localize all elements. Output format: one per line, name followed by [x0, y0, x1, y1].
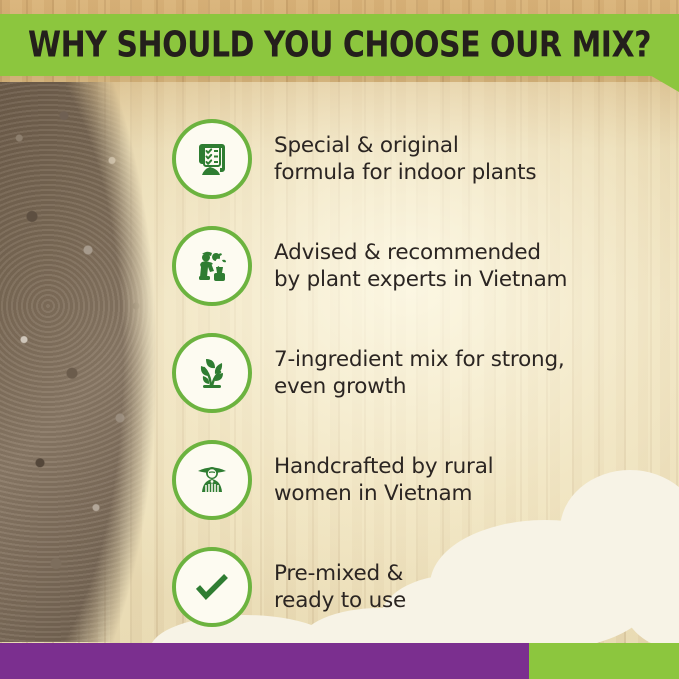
list-item: Advised & recommended by plant experts i…	[172, 212, 672, 319]
leaves-sprout-icon	[172, 333, 252, 413]
headline-banner: WHY SHOULD YOU CHOOSE OUR MIX?	[0, 14, 679, 76]
list-item: Handcrafted by rural women in Vietnam	[172, 426, 672, 533]
feature-list: Special & original formula for indoor pl…	[172, 105, 672, 640]
list-item-line-2: women in Vietnam	[274, 480, 493, 507]
list-item-line-1: 7-ingredient mix for strong,	[274, 346, 565, 373]
list-item-text: Handcrafted by rural women in Vietnam	[274, 453, 493, 507]
list-item-text: Advised & recommended by plant experts i…	[274, 239, 567, 293]
list-item-text: Special & original formula for indoor pl…	[274, 132, 536, 186]
checklist-clipboard-icon	[172, 119, 252, 199]
page-title: WHY SHOULD YOU CHOOSE OUR MIX?	[28, 24, 651, 65]
list-item: Special & original formula for indoor pl…	[172, 105, 672, 212]
list-item-line-2: even growth	[274, 373, 565, 400]
list-item: 7-ingredient mix for strong, even growth	[172, 319, 672, 426]
list-item-text: 7-ingredient mix for strong, even growth	[274, 346, 565, 400]
list-item-text: Pre-mixed & ready to use	[274, 560, 406, 614]
list-item-line-1: Pre-mixed &	[274, 560, 406, 587]
list-item-line-2: formula for indoor plants	[274, 159, 536, 186]
bottom-purple-bar	[0, 643, 679, 679]
list-item-line-1: Handcrafted by rural	[274, 453, 493, 480]
list-item-line-2: by plant experts in Vietnam	[274, 266, 567, 293]
gardener-watering-icon	[172, 226, 252, 306]
checkmark-icon	[172, 547, 252, 627]
bottom-green-accent	[529, 643, 679, 679]
list-item: Pre-mixed & ready to use	[172, 533, 672, 640]
product-infographic: WHY SHOULD YOU CHOOSE OUR MIX? Spec	[0, 0, 679, 679]
list-item-line-2: ready to use	[274, 587, 406, 614]
list-item-line-1: Advised & recommended	[274, 239, 567, 266]
soil-mix-photo	[0, 82, 160, 642]
list-item-line-1: Special & original	[274, 132, 536, 159]
woman-farmer-icon	[172, 440, 252, 520]
